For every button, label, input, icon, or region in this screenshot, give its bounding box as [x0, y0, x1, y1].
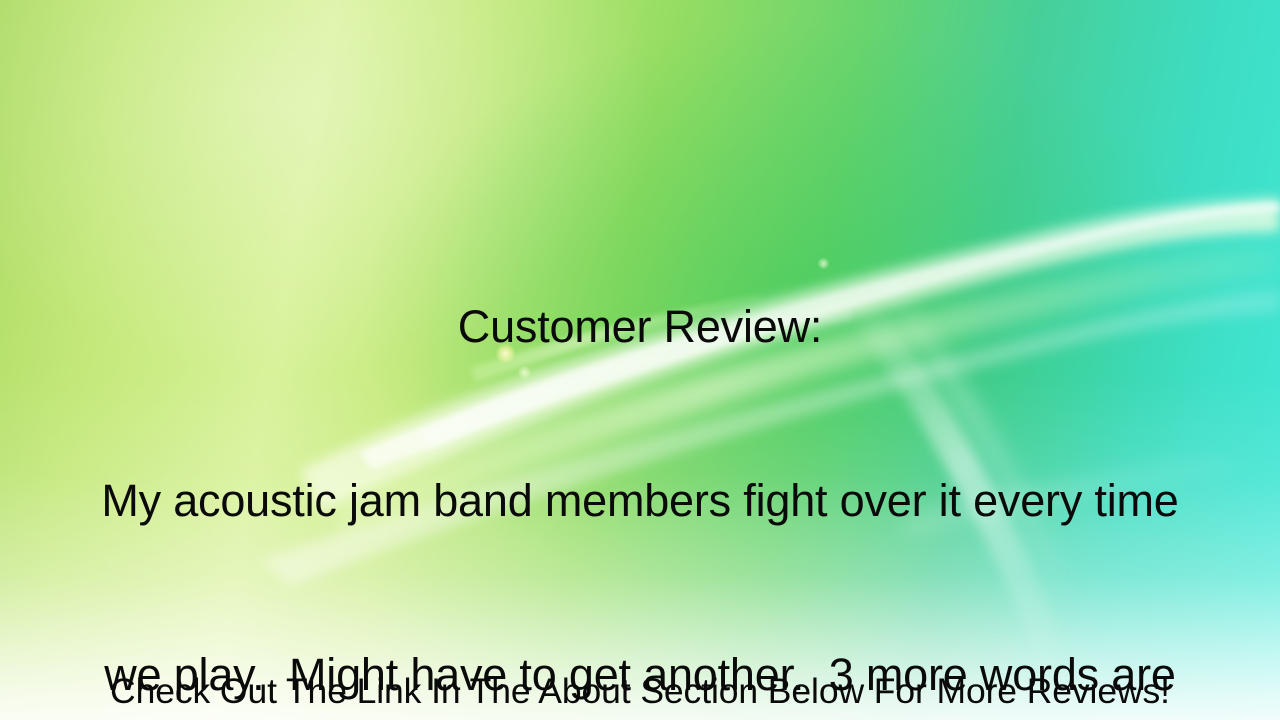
review-line-1: My acoustic jam band members fight over …: [0, 472, 1280, 530]
customer-review-text-block: Customer Review: My acoustic jam band me…: [0, 182, 1280, 720]
review-graphic-canvas: Customer Review: My acoustic jam band me…: [0, 0, 1280, 720]
footer-call-to-action: Check Out The Link In The About Section …: [0, 670, 1280, 712]
review-heading: Customer Review:: [0, 298, 1280, 356]
